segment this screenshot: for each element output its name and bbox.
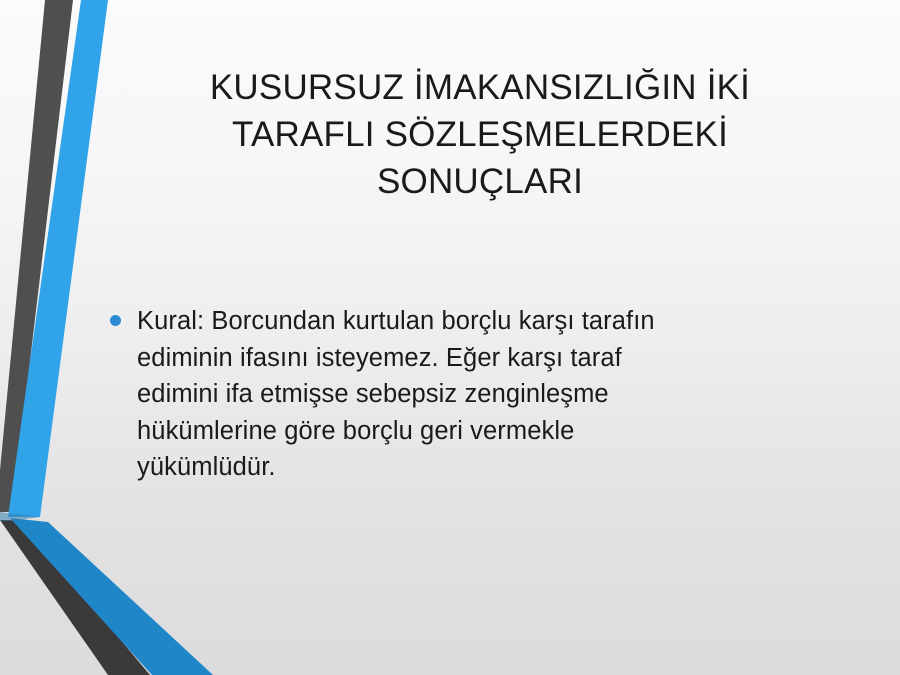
title-line-1: KUSURSUZ İMAKANSIZLIĞIN İKİ	[150, 64, 810, 111]
band-blue-upper	[8, 0, 108, 517]
slide-body: Kural: Borcundan kurtulan borçlu karşı t…	[104, 303, 864, 486]
slide-title: KUSURSUZ İMAKANSIZLIĞIN İKİ TARAFLI SÖZL…	[150, 64, 810, 205]
band-blue-lower	[10, 518, 213, 675]
slide-canvas: KUSURSUZ İMAKANSIZLIĞIN İKİ TARAFLI SÖZL…	[0, 0, 900, 675]
body-line-4: hükümlerine göre borçlu geri vermekle	[137, 413, 864, 450]
bullet-point-icon	[110, 315, 121, 326]
band-gray-lower	[0, 520, 150, 675]
title-line-2: TARAFLI SÖZLEŞMELERDEKİ	[150, 111, 810, 158]
body-line-2: ediminin ifasını isteyemez. Eğer karşı t…	[137, 340, 864, 377]
body-line-5: yükümlüdür.	[137, 449, 864, 486]
body-line-3: edimini ifa etmişse sebepsiz zenginleşme	[137, 376, 864, 413]
list-item: Kural: Borcundan kurtulan borçlu karşı t…	[104, 303, 864, 486]
body-line-1: Kural: Borcundan kurtulan borçlu karşı t…	[137, 303, 864, 340]
title-line-3: SONUÇLARI	[150, 158, 810, 205]
band-gray-upper	[0, 0, 73, 512]
band-convergence-highlight	[0, 512, 40, 521]
